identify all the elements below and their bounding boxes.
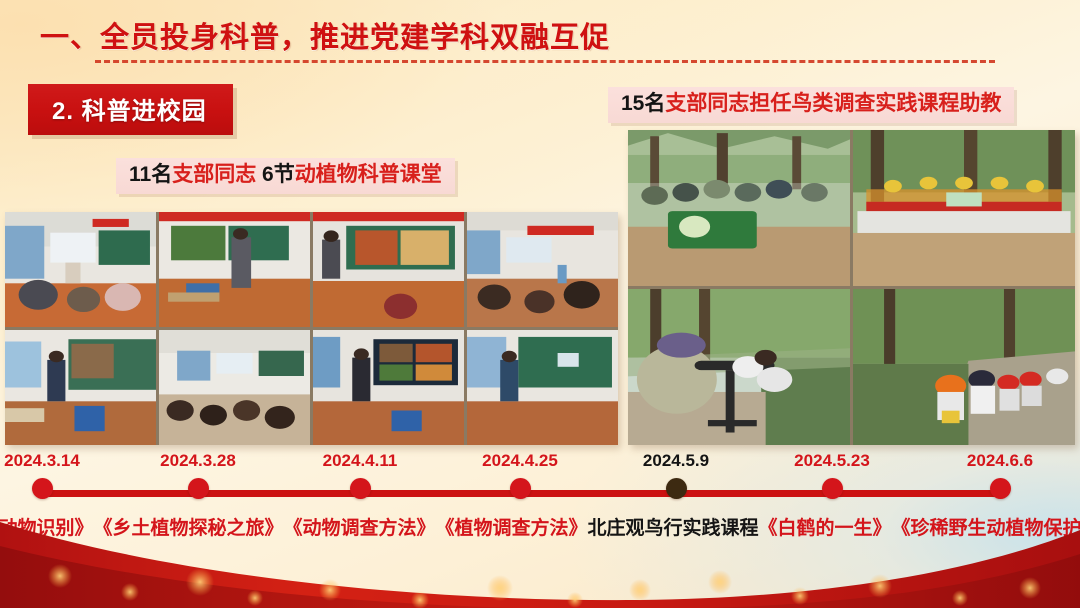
- timeline-date: 2024.5.23: [737, 452, 927, 469]
- photo-classroom-6: [159, 330, 310, 445]
- timeline-dot: [666, 478, 687, 499]
- photo-classroom-1: [5, 212, 156, 327]
- photo-classroom-7: [313, 330, 464, 445]
- timeline-dot: [822, 478, 843, 499]
- timeline-dot: [990, 478, 1011, 499]
- photo-birdsurvey-4: [853, 289, 1075, 445]
- timeline-node: 2024.5.23: [737, 452, 927, 499]
- caption-left-text1: 支部同志: [172, 163, 256, 186]
- timeline-dot: [510, 478, 531, 499]
- title-divider: [95, 60, 995, 63]
- photo-classroom-8: [467, 330, 618, 445]
- photo-collage-birdsurvey: [628, 130, 1075, 445]
- caption-right-text: 支部同志担任鸟类调查实践课程助教: [665, 92, 1001, 115]
- photo-birdsurvey-3: [628, 289, 850, 445]
- caption-chip-right: 15名支部同志担任鸟类调查实践课程助教: [608, 87, 1014, 123]
- section-tag: 2. 科普进校园: [28, 84, 233, 135]
- caption-left-count1: 11名: [129, 163, 172, 186]
- timeline-dot: [350, 478, 371, 499]
- photo-classroom-3: [313, 212, 464, 327]
- photo-birdsurvey-1: [628, 130, 850, 286]
- photo-collage-classroom: [5, 212, 618, 445]
- caption-left-text2: 动植物科普课堂: [295, 163, 442, 186]
- caption-right-count: 15名: [621, 92, 665, 115]
- slide-canvas: 一、全员投身科普，推进党建学科双融互促 2. 科普进校园 11名支部同志 6节动…: [0, 0, 1080, 608]
- page-title: 一、全员投身科普，推进党建学科双融互促: [40, 14, 610, 56]
- timeline-date: 2024.6.6: [905, 452, 1080, 469]
- timeline-dot: [188, 478, 209, 499]
- bottom-ribbon-decoration: [0, 516, 1080, 608]
- caption-left-count2: 6节: [256, 163, 295, 186]
- photo-classroom-2: [159, 212, 310, 327]
- photo-birdsurvey-2: [853, 130, 1075, 286]
- caption-chip-left: 11名支部同志 6节动植物科普课堂: [116, 158, 455, 194]
- timeline-node: 2024.6.6: [905, 452, 1080, 499]
- photo-classroom-5: [5, 330, 156, 445]
- photo-classroom-4: [467, 212, 618, 327]
- timeline-dot: [32, 478, 53, 499]
